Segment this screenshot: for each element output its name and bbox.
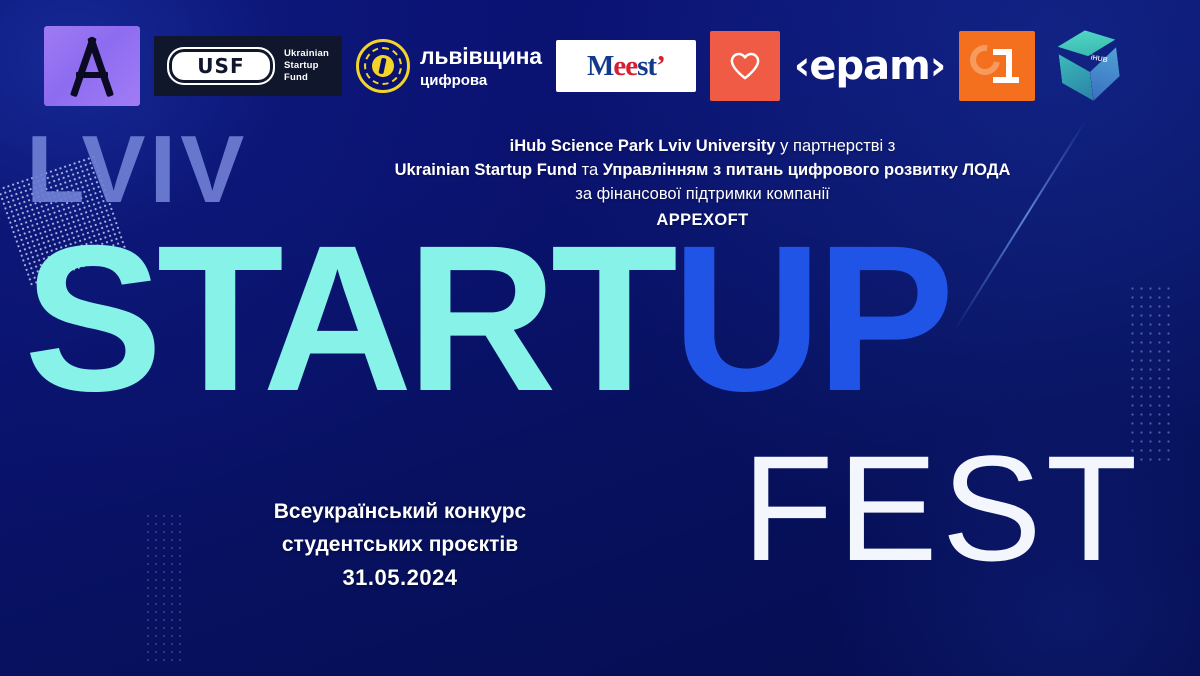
appexoft-a-icon [62,37,122,95]
meest-ee: ee [613,50,637,82]
meest-swoosh: ’ [656,50,665,82]
dotted-grid-bottom-left [144,512,182,662]
event-description-line2: студентських проєктів [200,528,600,561]
partner-line-1-rest: у партнерстві з [776,137,896,155]
gplus-bar-bottom [993,77,1019,83]
appexoft-logo[interactable] [44,26,140,106]
ihub-cube-icon: iHUB [1058,40,1123,105]
lvivshchyna-sub-text: цифрова [420,73,542,88]
gplus-g-icon [964,39,1006,81]
startup-title: STARTUP [24,215,949,423]
partner-line-2-bold-b: Управлінням з питань цифрового розвитку … [603,161,1011,179]
usf-fullname: Ukrainian Startup Fund [284,48,329,84]
sponsor-logo-strip: USF Ukrainian Startup Fund львівщина циф… [0,22,1200,110]
usf-wordmark: USF [167,47,275,85]
partner-line-2: Ukrainian Startup Fund та Управлінням з … [330,158,1075,182]
event-date: 31.05.2024 [200,561,600,594]
lvivshchyna-main-text: львівщина [420,45,542,68]
ihub-cube-label: iHUB [1090,54,1108,64]
startup-title-up: UP [672,203,949,435]
meest-m: M [587,50,613,82]
poster-canvas: USF Ukrainian Startup Fund львівщина циф… [0,0,1200,676]
meest-logo[interactable]: Meest’ [556,40,696,92]
lvivshchyna-text: львівщина цифрова [420,45,542,88]
heart-icon [730,51,760,81]
fest-title: FEST [742,433,1141,583]
epam-logo[interactable]: ‹epam› [794,43,945,89]
usf-line1: Ukrainian [284,48,329,60]
partner-line-1-bold: iHub Science Park Lviv University [510,137,776,155]
heart-logo[interactable] [710,31,780,101]
usf-logo[interactable]: USF Ukrainian Startup Fund [154,36,342,96]
lvivshchyna-seal-icon [356,39,410,93]
usf-line2: Startup [284,60,329,72]
partner-line-2-bold-a: Ukrainian Startup Fund [395,161,577,179]
partner-line-2-mid: та [577,161,603,179]
usf-mark-text: USF [197,54,244,78]
partner-line-1: iHub Science Park Lviv University у парт… [330,134,1075,158]
meest-st: st [637,50,656,82]
event-description: Всеукраїнський конкурс студентських проє… [200,495,600,594]
event-description-line1: Всеукраїнський конкурс [200,495,600,528]
usf-line3: Fund [284,72,329,84]
meest-wordmark: Meest’ [587,50,665,83]
ihub-cube-logo[interactable]: iHUB [1049,24,1131,108]
gplus-logo[interactable] [959,31,1035,101]
lvivshchyna-digital-logo[interactable]: львівщина цифрова [356,39,542,93]
startup-title-start: START [24,203,672,435]
